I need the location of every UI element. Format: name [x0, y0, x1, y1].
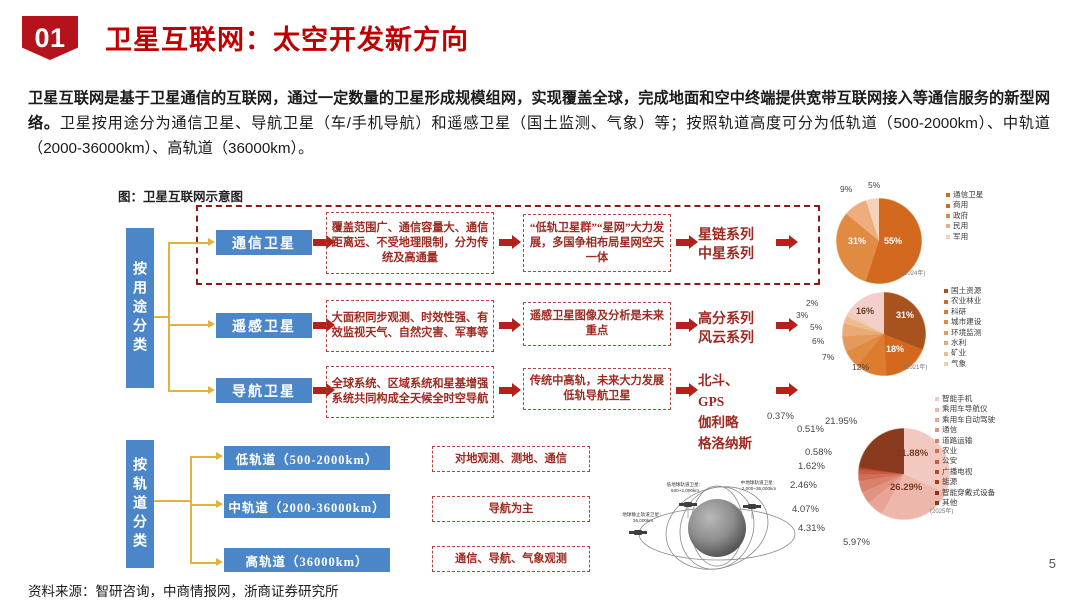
orbit-box-meo[interactable]: 中轨道（2000-36000km） — [224, 494, 390, 518]
sidebar-label-by-usage: 按用途分类 — [126, 228, 154, 388]
legend-item: 公安 — [935, 456, 995, 466]
intro-normal-text: 卫星按用途分为通信卫星、导航卫星（车/手机导航）和遥感卫星（国土监测、气象）等；… — [28, 115, 1050, 157]
pie2-value-2: 12% — [852, 362, 869, 372]
feature-box-communication: 覆盖范围广、通信容量大、通信距离远、不受地理限制，分为传统及高通量 — [326, 212, 494, 274]
pie1-legend: 通信卫星 商用 政府 民用 军用 — [946, 190, 983, 242]
pie3-value-2: 5.97% — [843, 537, 870, 548]
source-note: 资料来源：智研咨询，中商情报网，浙商证券研究所 — [28, 580, 339, 600]
legend-item: 商用 — [946, 200, 983, 210]
legend-item: 乘用车导航仪 — [935, 404, 995, 414]
legend-item: 能源 — [935, 477, 995, 487]
connector-orbit-arrow-1 — [216, 452, 223, 460]
orbit-use-box-geo: 通信、导航、气象观测 — [432, 546, 590, 572]
category-box-navigation[interactable]: 导航卫星 — [216, 378, 312, 403]
connector-orbit-branch-3 — [190, 562, 216, 564]
connector-orbit-trunk — [190, 456, 192, 564]
legend-item: 智能穿戴式设备 — [935, 488, 995, 498]
orbit-illustration: 低地球轨道卫星： 500~2,000km 中地球轨道卫星： 2,000~36,0… — [622, 462, 812, 580]
legend-item: 农业林业 — [944, 296, 981, 306]
legend-item: 通信卫星 — [946, 190, 983, 200]
connector-usage-arrow-1 — [208, 238, 215, 246]
legend-item: 气象 — [944, 359, 981, 369]
connector-orbit-arrow-2 — [216, 500, 223, 508]
pie1-year-note: (2024年) — [902, 268, 925, 277]
pie2-legend: 国土资源 农业林业 科研 城市建设 环境监测 水利 矿业 气象 — [944, 286, 981, 369]
connector-usage-branch-1 — [168, 242, 208, 244]
legend-item: 道路运输 — [935, 436, 995, 446]
orbit-label-meo: 中地球轨道卫星： 2,000~36,000km — [726, 480, 792, 492]
page-title: 卫星互联网：太空开发新方向 — [105, 18, 469, 57]
legend-item: 政府 — [946, 211, 983, 221]
connector-orbit-branch-2 — [190, 504, 216, 506]
pie3-value-0: 31.88% — [896, 448, 928, 459]
legend-item: 环境监测 — [944, 328, 981, 338]
connector-orbit-stub — [154, 500, 192, 502]
trend-box-remote-sensing: 遥感卫星图像及分析是未来重点 — [523, 302, 671, 346]
result-text-navigation: 北斗、 GPS 伽利略 格洛纳斯 — [698, 370, 752, 454]
orbit-use-box-leo: 对地观测、测地、通信 — [432, 446, 590, 472]
result-text-communication: 星链系列 中星系列 — [698, 226, 754, 264]
legend-item: 智能手机 — [935, 394, 995, 404]
pie2-value-5: 5% — [810, 322, 822, 332]
legend-item: 乘用车自动驾驶 — [935, 415, 995, 425]
pie3-value-10: 21.95% — [825, 416, 857, 427]
legend-item: 科研 — [944, 307, 981, 317]
pie3-legend: 智能手机 乘用车导航仪 乘用车自动驾驶 通信 道路运输 农业 公安 广播电视 能… — [935, 394, 995, 508]
orbit-box-leo[interactable]: 低轨道（500-2000km） — [224, 446, 390, 470]
pie2-year-note: (2021年) — [904, 362, 927, 371]
legend-item: 通信 — [935, 425, 995, 435]
category-box-remote-sensing[interactable]: 遥感卫星 — [216, 313, 312, 338]
pie2-value-1: 18% — [886, 344, 904, 354]
legend-item: 国土资源 — [944, 286, 981, 296]
pie2-value-8: 16% — [856, 306, 874, 316]
figure-caption: 图：卫星互联网示意图 — [118, 186, 243, 205]
pie3-value-1: 26.29% — [890, 482, 922, 493]
connector-usage-branch-3 — [168, 390, 208, 392]
connector-usage-arrow-3 — [208, 386, 215, 394]
slide-page: 01 卫星互联网：太空开发新方向 卫星互联网是基于卫星通信的互联网，通过一定数量… — [0, 0, 1080, 608]
orbit-use-box-meo: 导航为主 — [432, 496, 590, 522]
page-number: 5 — [1049, 556, 1056, 571]
connector-usage-branch-2 — [168, 324, 208, 326]
trend-box-communication: “低轨卫星群”“星网”大力发展，多国争相布局星网空天一体 — [523, 214, 671, 272]
trend-box-navigation: 传统中高轨，未来大力发展低轨导航卫星 — [523, 368, 671, 410]
pie2-value-7: 2% — [806, 298, 818, 308]
connector-orbit-arrow-3 — [216, 558, 223, 566]
legend-item: 其他 — [935, 498, 995, 508]
pie1-value-2: 9% — [840, 184, 852, 194]
intro-paragraph: 卫星互联网是基于卫星通信的互联网，通过一定数量的卫星形成规模组网，实现覆盖全球，… — [28, 86, 1050, 161]
pie2-value-6: 3% — [796, 310, 808, 320]
pie1-value-1: 31% — [848, 236, 866, 246]
pie3-value-8: 0.51% — [797, 424, 824, 435]
sidebar-label-by-orbit: 按轨道分类 — [126, 440, 154, 568]
pie2-value-0: 31% — [896, 310, 914, 320]
feature-box-navigation: 全球系统、区域系统和星基增强系统共同构成全天候全时空导航 — [326, 366, 494, 418]
pie3-value-9: 0.37% — [767, 411, 794, 422]
legend-item: 农业 — [935, 446, 995, 456]
orbit-label-geo: 地球静止轨道卫星： 36,000km — [614, 512, 672, 524]
pie3-value-7: 0.58% — [805, 447, 832, 458]
connector-orbit-branch-1 — [190, 456, 216, 458]
pie1-value-0: 55% — [884, 236, 902, 246]
legend-item: 军用 — [946, 232, 983, 242]
pie2-value-4: 6% — [812, 336, 824, 346]
connector-usage-arrow-2 — [208, 320, 215, 328]
result-text-remote-sensing: 高分系列 风云系列 — [698, 310, 754, 348]
category-box-communication[interactable]: 通信卫星 — [216, 230, 312, 255]
legend-item: 水利 — [944, 338, 981, 348]
section-number-badge: 01 — [22, 16, 78, 60]
orbit-box-geo[interactable]: 高轨道（36000km） — [224, 548, 390, 572]
legend-item: 民用 — [946, 221, 983, 231]
orbit-label-leo: 低地球轨道卫星： 500~2,000km — [654, 482, 716, 494]
pie1-value-3: 5% — [868, 180, 880, 190]
legend-item: 广播电视 — [935, 467, 995, 477]
connector-usage-stub — [154, 316, 170, 318]
pie2-value-3: 7% — [822, 352, 834, 362]
feature-box-remote-sensing: 大面积同步观测、时效性强、有效监视天气、自然灾害、军事等 — [326, 300, 494, 352]
legend-item: 城市建设 — [944, 317, 981, 327]
legend-item: 矿业 — [944, 348, 981, 358]
